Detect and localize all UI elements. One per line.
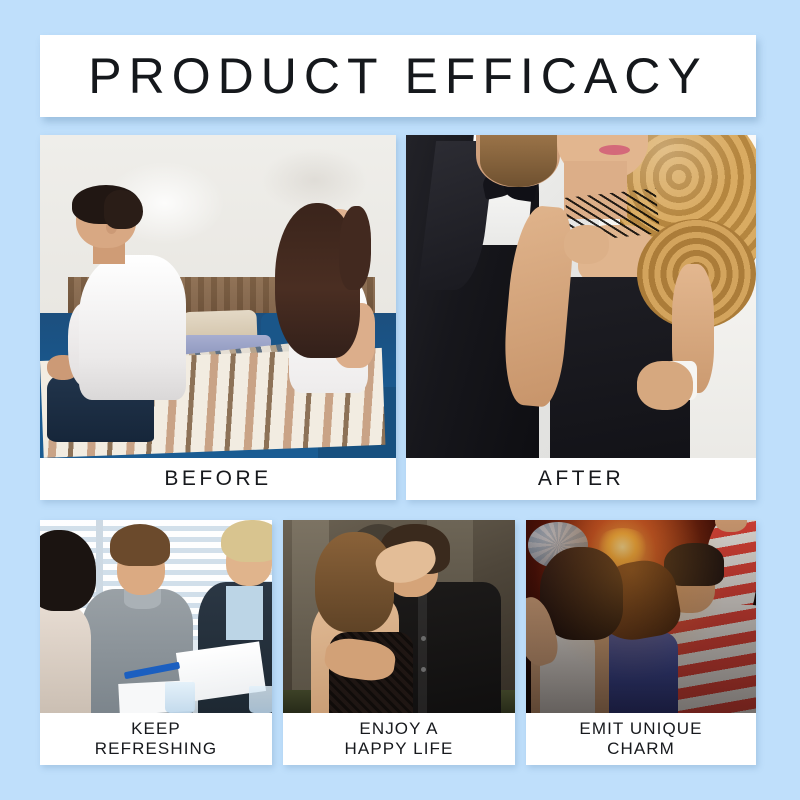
caption-before: BEFORE <box>40 458 396 500</box>
caption-line: EMIT UNIQUE <box>579 719 702 739</box>
card-emit-unique-charm: EMIT UNIQUE CHARM <box>526 520 756 765</box>
photo-keep-refreshing <box>40 520 272 713</box>
card-before: BEFORE <box>40 135 396 500</box>
caption-line: HAPPY LIFE <box>345 739 454 759</box>
card-enjoy-a-happy-life: ENJOY A HAPPY LIFE <box>283 520 515 765</box>
photo-enjoy-a-happy-life <box>283 520 515 713</box>
caption-after: AFTER <box>406 458 756 500</box>
before-scene <box>40 135 396 458</box>
caption-line: KEEP <box>131 719 181 739</box>
caption-line: REFRESHING <box>95 739 217 759</box>
caption-emit-unique-charm: EMIT UNIQUE CHARM <box>526 713 756 765</box>
party-scene <box>526 520 756 713</box>
product-efficacy-poster: PRODUCT EFFICACY <box>0 0 800 800</box>
caption-keep-refreshing: KEEP REFRESHING <box>40 713 272 765</box>
photo-after <box>406 135 756 458</box>
photo-before <box>40 135 396 458</box>
romantic-couple-scene <box>283 520 515 713</box>
office-meeting-scene <box>40 520 272 713</box>
caption-line: ENJOY A <box>359 719 438 739</box>
card-keep-refreshing: KEEP REFRESHING <box>40 520 272 765</box>
caption-line: AFTER <box>538 467 624 492</box>
after-scene <box>406 135 756 458</box>
card-after: AFTER <box>406 135 756 500</box>
photo-emit-unique-charm <box>526 520 756 713</box>
caption-line: BEFORE <box>164 467 271 492</box>
caption-enjoy-a-happy-life: ENJOY A HAPPY LIFE <box>283 713 515 765</box>
page-title: PRODUCT EFFICACY <box>88 51 707 101</box>
caption-line: CHARM <box>607 739 675 759</box>
header-banner: PRODUCT EFFICACY <box>40 35 756 117</box>
